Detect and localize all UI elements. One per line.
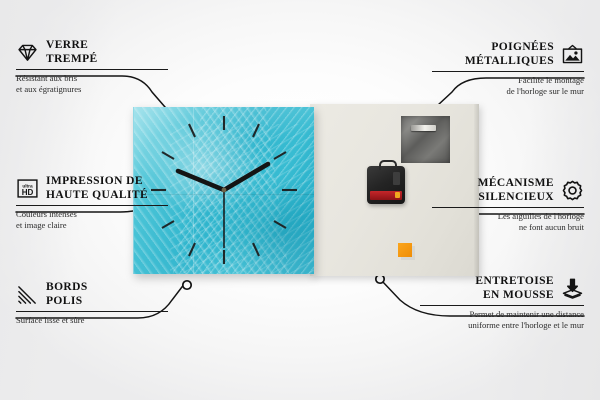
polished-edge-icon bbox=[16, 283, 39, 306]
callout-sub-line2: et aux égratignures bbox=[16, 84, 168, 95]
svg-text:HD: HD bbox=[22, 187, 34, 196]
callout-title-line2: EN MOUSSE bbox=[475, 288, 554, 302]
callout-sub-line2: uniforme entre l'horloge et le mur bbox=[420, 320, 584, 331]
hanger-slot bbox=[411, 125, 436, 131]
callout-verre-trempe: VERRE TREMPÉ Résistant aux bris et aux é… bbox=[16, 38, 168, 96]
mechanism-hook bbox=[379, 160, 397, 170]
callout-sub-line1: Les aiguilles de l'horloge bbox=[432, 211, 584, 222]
picture-hanger-icon bbox=[561, 43, 584, 66]
callout-entretoise-en-mousse: ENTRETOISE EN MOUSSE Permet de maintenir… bbox=[420, 274, 584, 332]
clock-mechanism bbox=[367, 166, 405, 204]
callout-header: MÉCANISME SILENCIEUX bbox=[432, 176, 584, 204]
callout-title-line2: MÉTALLIQUES bbox=[465, 54, 554, 68]
clock-hand-hour bbox=[178, 171, 224, 190]
callout-title-line1: ENTRETOISE bbox=[475, 274, 554, 288]
callout-sub-line1: Résistant aux bris bbox=[16, 73, 168, 84]
battery bbox=[370, 191, 402, 200]
callout-rule bbox=[432, 207, 584, 208]
callout-rule bbox=[432, 71, 584, 72]
metal-hanger-plate bbox=[401, 116, 450, 163]
callout-title-line1: VERRE bbox=[46, 38, 98, 52]
callout-rule bbox=[16, 205, 168, 206]
callout-title-line1: MÉCANISME bbox=[478, 176, 554, 190]
callout-header: ultra HD IMPRESSION DE HAUTE QUALITÉ bbox=[16, 174, 168, 202]
callout-rule bbox=[16, 69, 168, 70]
callout-title-line1: POIGNÉES bbox=[465, 40, 554, 54]
callout-poignees-metalliques: POIGNÉES MÉTALLIQUES Facilite le montage… bbox=[432, 40, 584, 98]
mechanism-dial bbox=[393, 172, 400, 185]
callout-mecanisme-silencieux: MÉCANISME SILENCIEUX Les aiguilles de l'… bbox=[432, 176, 584, 234]
clock-hand-minute bbox=[224, 164, 268, 190]
callout-sub-line2: ne font aucun bruit bbox=[432, 222, 584, 233]
callout-sub-line2: et image claire bbox=[16, 220, 168, 231]
product-image bbox=[133, 104, 479, 279]
callout-header: ENTRETOISE EN MOUSSE bbox=[420, 274, 584, 302]
infographic-canvas: VERRE TREMPÉ Résistant aux bris et aux é… bbox=[0, 0, 600, 400]
callout-title-line2: HAUTE QUALITÉ bbox=[46, 188, 148, 202]
foam-spacer bbox=[398, 243, 412, 257]
callout-sub-line2: de l'horloge sur le mur bbox=[432, 86, 584, 97]
callout-title-line1: BORDS bbox=[46, 280, 88, 294]
callout-sub-line1: Permet de maintenir une distance bbox=[420, 309, 584, 320]
callout-sub-line1: Couleurs intenses bbox=[16, 209, 168, 220]
gear-icon bbox=[561, 179, 584, 202]
callout-header: VERRE TREMPÉ bbox=[16, 38, 168, 66]
foam-spacer-icon bbox=[561, 277, 584, 300]
callout-header: BORDS POLIS bbox=[16, 280, 168, 308]
clock-center-pin bbox=[222, 188, 227, 193]
diamond-icon bbox=[16, 41, 39, 64]
callout-title-line2: TREMPÉ bbox=[46, 52, 98, 66]
callout-title-line1: IMPRESSION DE bbox=[46, 174, 148, 188]
callout-title-line2: SILENCIEUX bbox=[478, 190, 554, 204]
callout-sub-line1: Facilite le montage bbox=[432, 75, 584, 86]
callout-header: POIGNÉES MÉTALLIQUES bbox=[432, 40, 584, 68]
callout-rule bbox=[16, 311, 168, 312]
ultra-hd-badge-icon: ultra HD bbox=[16, 177, 39, 200]
callout-sub-line1: Surface lisse et sûre bbox=[16, 315, 168, 326]
callout-title-line2: POLIS bbox=[46, 294, 88, 308]
connector-dot-bords-polis bbox=[183, 281, 191, 289]
callout-impression-haute-qualite: ultra HD IMPRESSION DE HAUTE QUALITÉ Cou… bbox=[16, 174, 168, 232]
callout-rule bbox=[420, 305, 584, 306]
callout-bords-polis: BORDS POLIS Surface lisse et sûre bbox=[16, 280, 168, 326]
